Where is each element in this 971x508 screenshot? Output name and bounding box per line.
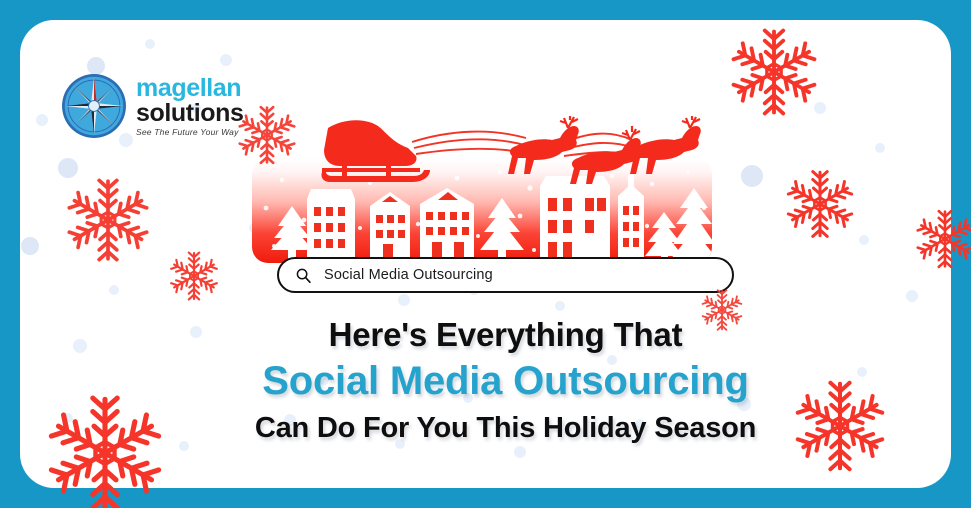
bokeh-dot [741,165,763,187]
village-silhouette [252,158,712,263]
snowflake-bottom-left-large [44,392,166,508]
snowflake-right-upper [784,168,856,240]
tree-2 [480,198,524,260]
bokeh-dot [109,285,119,295]
compass-rose-icon [60,72,128,140]
bokeh-dot [220,54,232,66]
headline-line-1: Here's Everything That [40,314,951,356]
tree-1 [271,206,313,260]
snowflake-right-edge [914,208,971,270]
snowflake-top-right [728,26,820,118]
bokeh-dot [514,446,526,458]
snowflake-top-left-banner [236,104,298,166]
bokeh-dot [398,294,410,306]
bokeh-dot [555,301,565,311]
reins [412,132,636,156]
poster-canvas: magellan solutions See The Future Your W… [0,0,971,508]
logo-word-solutions: solutions [136,101,244,126]
house-1 [307,189,355,260]
logo-word-magellan: magellan [136,77,244,101]
bokeh-dot [58,158,78,178]
house-3 [420,188,474,260]
logo-tagline: See The Future Your Way [136,127,244,137]
house-4 [540,176,610,260]
bokeh-dot [859,235,869,245]
logo-wordmark: magellan solutions See The Future Your W… [136,75,244,137]
snowflake-left-mid [168,250,220,302]
snowflake-right-lower-small [700,288,744,332]
magellan-solutions-logo[interactable]: magellan solutions See The Future Your W… [60,66,250,146]
house-5-church [618,170,644,260]
snowflake-bottom-right [792,378,888,474]
search-icon[interactable] [295,267,312,284]
bokeh-dot [906,290,918,302]
search-input-value[interactable]: Social Media Outsourcing [324,267,493,283]
snowflake-left-upper [64,176,152,264]
bokeh-dot [21,237,39,255]
search-input[interactable]: Social Media Outsourcing [277,257,734,293]
bokeh-dot [875,143,885,153]
house-2 [370,192,410,260]
village-scene-panel [252,158,712,263]
bokeh-dot [36,114,48,126]
bokeh-dot [145,39,155,49]
